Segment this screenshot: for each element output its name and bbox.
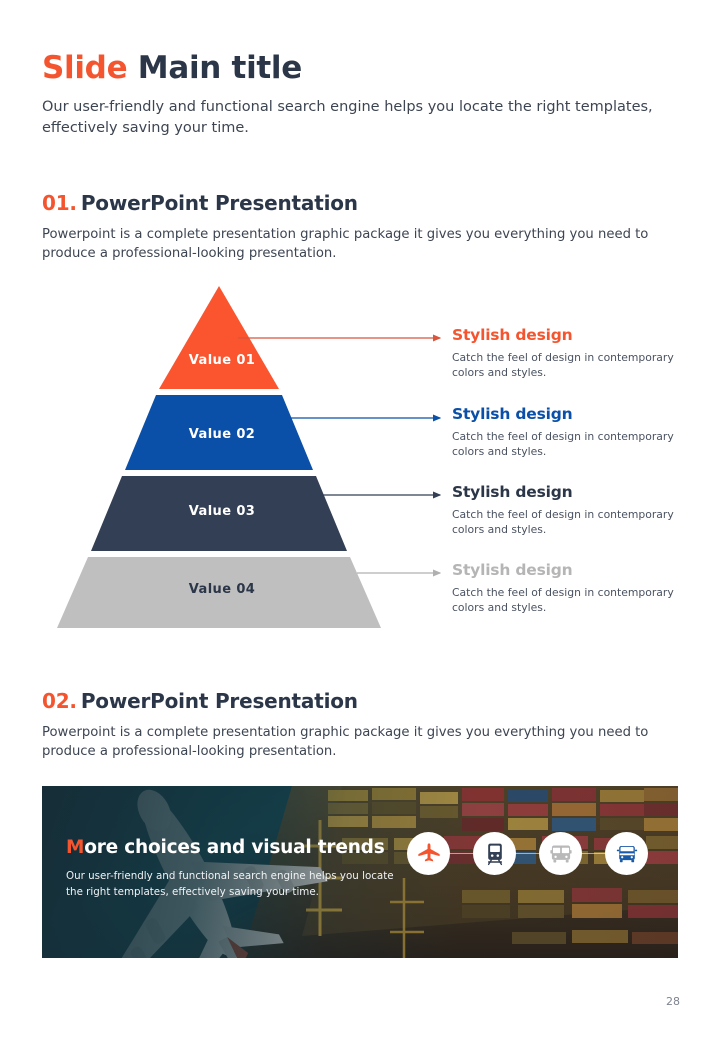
page-subtitle: Our user-friendly and functional search … (42, 97, 682, 141)
transport-icons-row (407, 832, 648, 875)
bus-icon-button[interactable] (539, 832, 582, 875)
legend-item-4-desc: Catch the feel of design in contemporary… (452, 585, 702, 616)
legend-item-3-title: Stylish design (452, 484, 702, 502)
banner-title-accent: M (66, 837, 84, 858)
airplane-icon (416, 841, 442, 867)
pyramid-shape: Value 01 Value 02 Value 03 Value 04 (42, 283, 402, 628)
section-02-number: 02. (42, 689, 77, 713)
banner-text-block: More choices and visual trends Our user-… (66, 838, 396, 901)
legend-item-2-desc: Catch the feel of design in contemporary… (452, 429, 702, 460)
legend-item-1-title: Stylish design (452, 327, 702, 345)
slide-canvas: Slide Main title Our user-friendly and f… (0, 0, 720, 1040)
legend-item-3: Stylish design Catch the feel of design … (452, 484, 702, 538)
pyramid-svg (42, 283, 402, 628)
icon-connector-line-2 (516, 853, 539, 854)
pyramid-label-1: Value 01 (42, 353, 402, 368)
pyramid-label-4: Value 04 (42, 582, 402, 597)
legend-item-2-title: Stylish design (452, 406, 702, 424)
icon-connector-line-3 (582, 853, 605, 854)
section-01-heading: 01.PowerPoint Presentation (42, 192, 682, 214)
legend-item-1: Stylish design Catch the feel of design … (452, 327, 702, 381)
train-icon (483, 842, 507, 866)
pyramid-legend: Stylish design Catch the feel of design … (452, 283, 702, 628)
pyramid-level-1[interactable] (159, 286, 279, 389)
legend-item-2: Stylish design Catch the feel of design … (452, 406, 702, 460)
section-01-body: Powerpoint is a complete presentation gr… (42, 225, 672, 263)
section-01-number: 01. (42, 191, 77, 215)
section-02-body: Powerpoint is a complete presentation gr… (42, 723, 672, 761)
car-icon (614, 841, 640, 867)
car-icon-button[interactable] (605, 832, 648, 875)
page-title: Slide Main title (42, 52, 682, 85)
section-01: 01.PowerPoint Presentation Powerpoint is… (42, 192, 682, 263)
section-02-heading: 02.PowerPoint Presentation (42, 690, 682, 712)
train-icon-button[interactable] (473, 832, 516, 875)
banner-subtitle: Our user-friendly and functional search … (66, 869, 396, 901)
page-title-rest: Main title (127, 50, 302, 86)
pyramid-diagram: Value 01 Value 02 Value 03 Value 04 (42, 283, 682, 628)
legend-item-4-title: Stylish design (452, 562, 702, 580)
banner-title: More choices and visual trends (66, 838, 396, 858)
banner-title-rest: ore choices and visual trends (84, 837, 384, 858)
pyramid-label-3: Value 03 (42, 504, 402, 519)
airplane-icon-button[interactable] (407, 832, 450, 875)
section-01-title: PowerPoint Presentation (81, 191, 358, 215)
section-02-title: PowerPoint Presentation (81, 689, 358, 713)
pyramid-label-2: Value 02 (42, 427, 402, 442)
page-title-accent: Slide (42, 50, 127, 86)
legend-item-1-desc: Catch the feel of design in contemporary… (452, 350, 702, 381)
promo-banner: More choices and visual trends Our user-… (42, 786, 678, 958)
bus-icon (548, 841, 574, 867)
section-02: 02.PowerPoint Presentation Powerpoint is… (42, 690, 682, 761)
icon-connector-line-1 (450, 853, 473, 854)
page-number: 28 (666, 995, 680, 1008)
legend-item-3-desc: Catch the feel of design in contemporary… (452, 507, 702, 538)
slide-header: Slide Main title Our user-friendly and f… (42, 52, 682, 140)
legend-item-4: Stylish design Catch the feel of design … (452, 562, 702, 616)
